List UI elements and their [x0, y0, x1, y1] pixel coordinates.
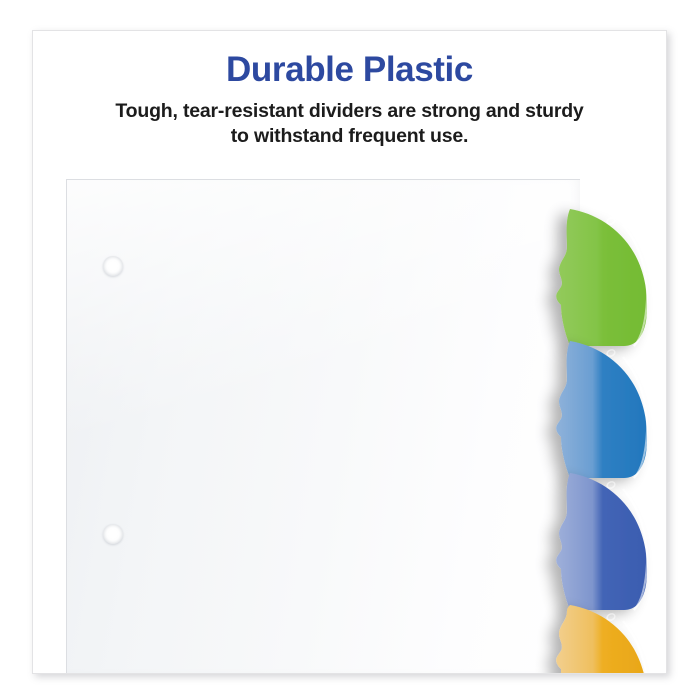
product-image-card: Durable Plastic Tough, tear-resistant di…: [32, 30, 667, 674]
indigo-tab: [556, 473, 647, 610]
green-tab: [556, 209, 647, 346]
divider-tab-layer: [33, 31, 666, 673]
blue-tab: [556, 341, 647, 478]
screenshot-stage: Durable Plastic Tough, tear-resistant di…: [0, 0, 700, 700]
orange-tab: [556, 605, 648, 673]
tab-clip-region: [33, 31, 666, 673]
